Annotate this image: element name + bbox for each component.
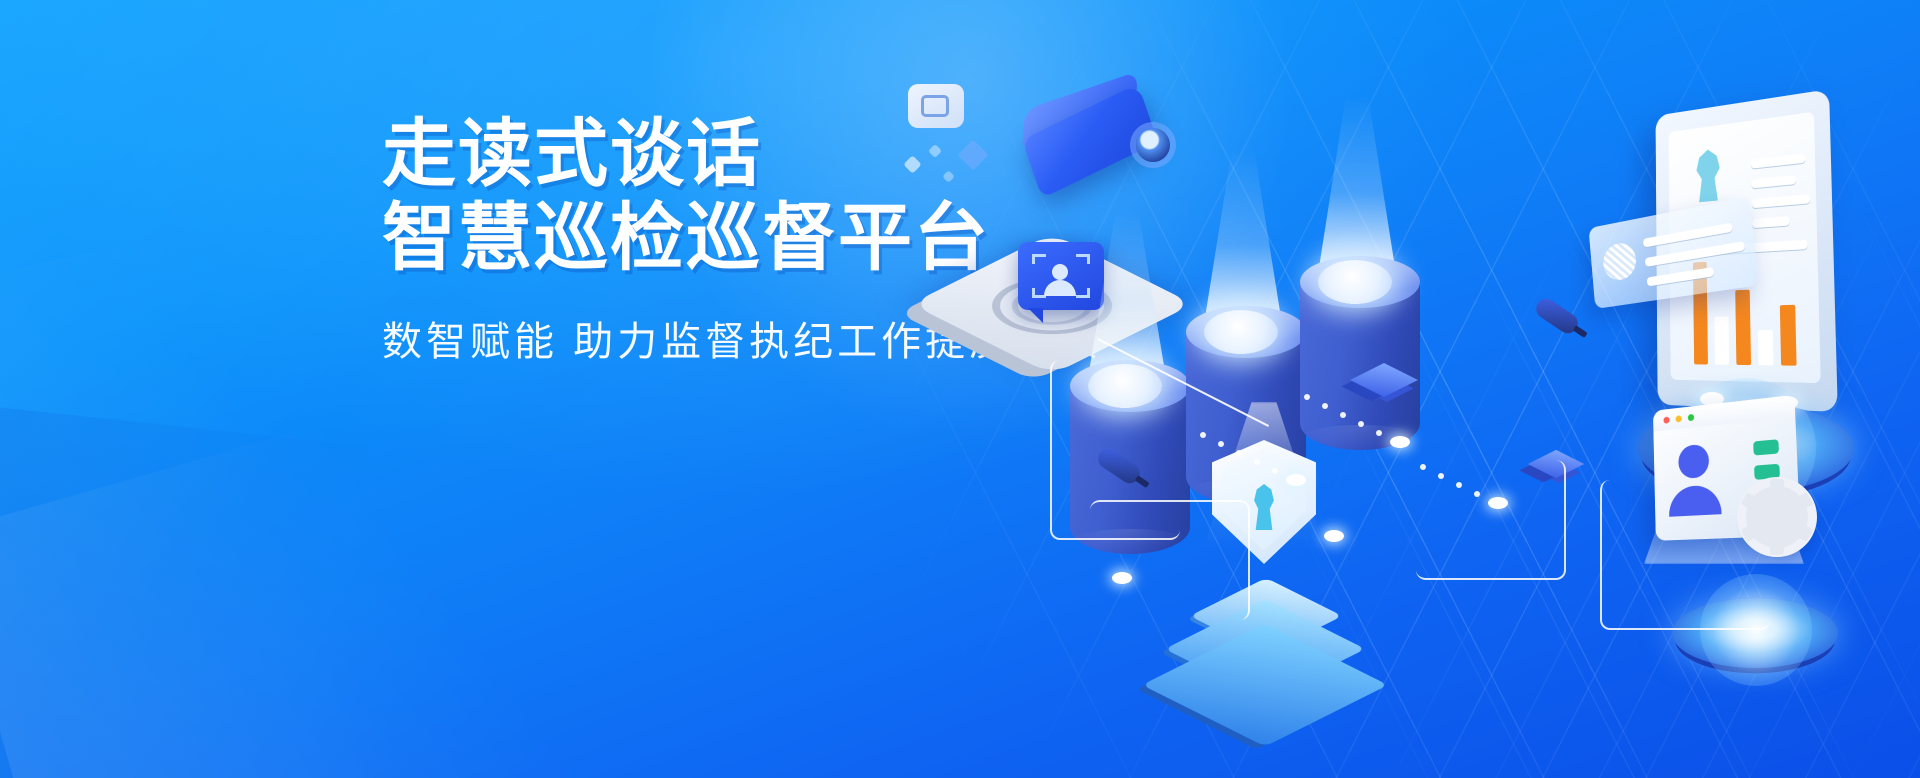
pixel-4 [957, 139, 988, 170]
wire-path-bottom [1090, 500, 1250, 620]
connector-node-end-2 [1324, 530, 1344, 542]
face-scan-bubble-icon [1018, 242, 1104, 310]
wire-path-right [1416, 460, 1566, 580]
wire-path-far-right [1600, 480, 1770, 630]
badge-1 [1753, 439, 1779, 455]
security-camera-icon [1010, 74, 1230, 214]
pixel-3 [942, 170, 955, 183]
pixel-1 [903, 155, 921, 173]
chat-bubble-small [908, 84, 964, 128]
shadow-sweep [0, 379, 724, 778]
connector-node-end [1112, 572, 1132, 584]
hero-banner: 走读式谈话 智慧巡检巡督平台 数智赋能 助力监督执纪工作提质增效 [0, 0, 1920, 778]
illustration [900, 60, 1920, 720]
avatar-icon [1678, 444, 1709, 480]
badge-2 [1754, 464, 1780, 480]
pixel-2 [928, 144, 942, 158]
cable-plug [1532, 295, 1581, 337]
light-sweep-bottom [0, 323, 817, 778]
